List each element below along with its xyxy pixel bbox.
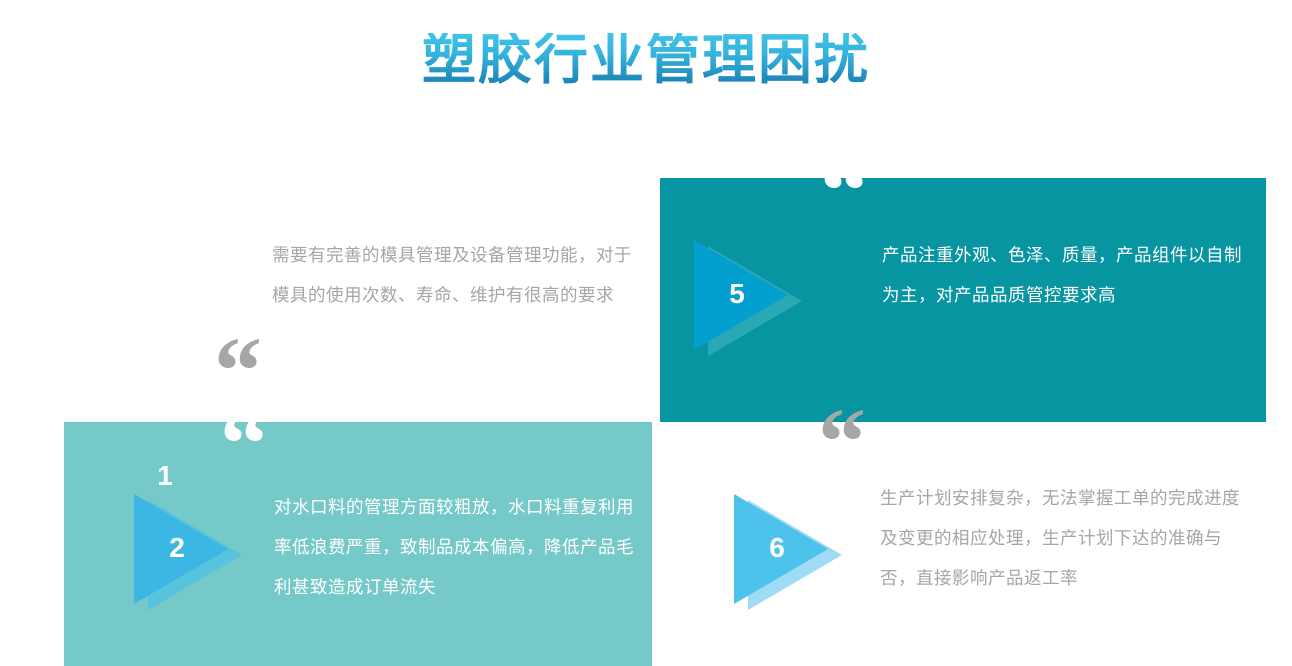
panel-item-5: 5 “ 产品注重外观、色泽、质量，产品组件以自制为主，对产品品质管控要求高 bbox=[660, 178, 1266, 422]
arrow-marker-6: 6 bbox=[730, 494, 850, 610]
quote-mark-icon: “ bbox=[220, 396, 268, 492]
panel-body-text-2: 对水口料的管理方面较粗放，水口料重复利用率低浪费严重，致制品成本偏高，降低产品毛… bbox=[274, 487, 642, 607]
panel-item-6: 6 “ 生产计划安排复杂，无法掌握工单的完成进度及变更的相应处理，生产计划下达的… bbox=[700, 422, 1292, 666]
panel-item-2: 2 “ 对水口料的管理方面较粗放，水口料重复利用率低浪费严重，致制品成本偏高，降… bbox=[64, 422, 652, 666]
page-title: 塑胶行业管理困扰 bbox=[422, 33, 870, 87]
panel-body-text-5: 产品注重外观、色泽、质量，产品组件以自制为主，对产品品质管控要求高 bbox=[882, 235, 1252, 315]
quote-mark-icon: “ bbox=[818, 394, 866, 490]
panel-number-1: 1 bbox=[148, 462, 182, 490]
panel-number-2: 2 bbox=[160, 534, 194, 562]
panel-body-text-1: 需要有完善的模具管理及设备管理功能，对于模具的使用次数、寿命、维护有很高的要求 bbox=[272, 235, 642, 315]
panel-body-text-6: 生产计划安排复杂，无法掌握工单的完成进度及变更的相应处理，生产计划下达的准确与否… bbox=[880, 478, 1252, 598]
arrow-marker-2: 2 bbox=[130, 494, 250, 610]
title-bar: 塑胶行业管理困扰 bbox=[0, 0, 1292, 120]
quote-mark-icon: “ bbox=[820, 143, 868, 239]
panel-item-1: 1 “ 需要有完善的模具管理及设备管理功能，对于模具的使用次数、寿命、维护有很高… bbox=[0, 178, 660, 422]
panel-number-6: 6 bbox=[760, 534, 794, 562]
arrow-marker-5: 5 bbox=[690, 240, 810, 356]
panel-number-5: 5 bbox=[720, 280, 754, 308]
